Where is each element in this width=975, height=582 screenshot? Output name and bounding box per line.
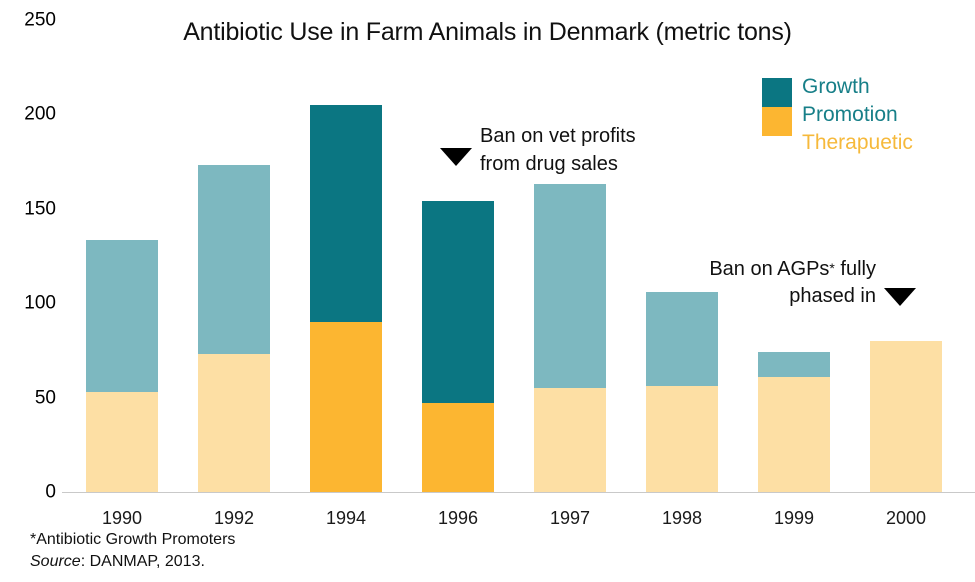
legend-label-therapeutic: Therapuetic <box>802 129 913 157</box>
annotation-agp-line1-pre: Ban on AGPs <box>709 258 829 280</box>
x-axis-tick-1994: 1994 <box>291 508 401 529</box>
legend-label-growth: Growth <box>802 73 913 101</box>
y-axis-tick-0: 0 <box>10 483 56 502</box>
legend-labels: Growth Promotion Therapuetic <box>802 73 913 157</box>
footnote-agp-definition: *Antibiotic Growth Promoters <box>30 529 235 551</box>
footnotes: *Antibiotic Growth Promoters Source: DAN… <box>30 529 235 573</box>
annotation-vet-line1: Ban on vet profits <box>480 122 680 150</box>
bar-segment-therapeutic-1992 <box>198 354 270 492</box>
bar-segment-growth-1990 <box>86 240 158 392</box>
annotation-agp-line2: phased in <box>680 282 876 310</box>
annotation-agp-line1-post: fully <box>835 258 876 280</box>
x-axis-tick-1999: 1999 <box>739 508 849 529</box>
y-axis: 250 200 150 100 50 0 <box>0 20 56 492</box>
x-axis-baseline <box>62 492 975 493</box>
bar-segment-therapeutic-1998 <box>646 386 718 492</box>
bar-segment-growth-1997 <box>534 184 606 388</box>
y-axis-tick-250: 250 <box>10 11 56 30</box>
bar-segment-growth-1996 <box>422 201 494 403</box>
triangle-down-icon-agp-ban <box>884 288 916 306</box>
triangle-down-icon-vet-ban <box>440 148 472 166</box>
y-axis-tick-200: 200 <box>10 105 56 124</box>
bar-segment-therapeutic-1990 <box>86 392 158 492</box>
legend-label-promotion: Promotion <box>802 101 913 129</box>
footnote-source-value: : DANMAP, 2013. <box>81 553 205 570</box>
x-axis-tick-2000: 2000 <box>851 508 961 529</box>
x-axis-tick-1997: 1997 <box>515 508 625 529</box>
bar-segment-therapeutic-1996 <box>422 403 494 492</box>
bar-segment-growth-1992 <box>198 165 270 354</box>
x-axis-tick-1990: 1990 <box>67 508 177 529</box>
bar-segment-therapeutic-1994 <box>310 322 382 492</box>
bar-segment-growth-1994 <box>310 105 382 322</box>
legend-swatches <box>762 78 792 136</box>
annotation-agp-line1: Ban on AGPs* fully <box>680 254 876 283</box>
y-axis-tick-150: 150 <box>10 200 56 219</box>
chart-container: Antibiotic Use in Farm Animals in Denmar… <box>0 0 975 582</box>
bar-segment-therapeutic-1997 <box>534 388 606 492</box>
y-axis-tick-50: 50 <box>10 389 56 408</box>
bar-segment-growth-1999 <box>758 352 830 377</box>
y-axis-tick-100: 100 <box>10 294 56 313</box>
x-axis-tick-1992: 1992 <box>179 508 289 529</box>
footnote-source-label: Source <box>30 553 81 570</box>
legend-swatch-therapeutic <box>762 107 792 136</box>
annotation-vet-line2: from drug sales <box>480 150 680 178</box>
footnote-source: Source: DANMAP, 2013. <box>30 551 235 573</box>
legend-swatch-growth-promotion <box>762 78 792 107</box>
x-axis-tick-1996: 1996 <box>403 508 513 529</box>
bar-segment-therapeutic-1999 <box>758 377 830 492</box>
bar-segment-therapeutic-2000 <box>870 341 942 492</box>
x-axis-tick-1998: 1998 <box>627 508 737 529</box>
